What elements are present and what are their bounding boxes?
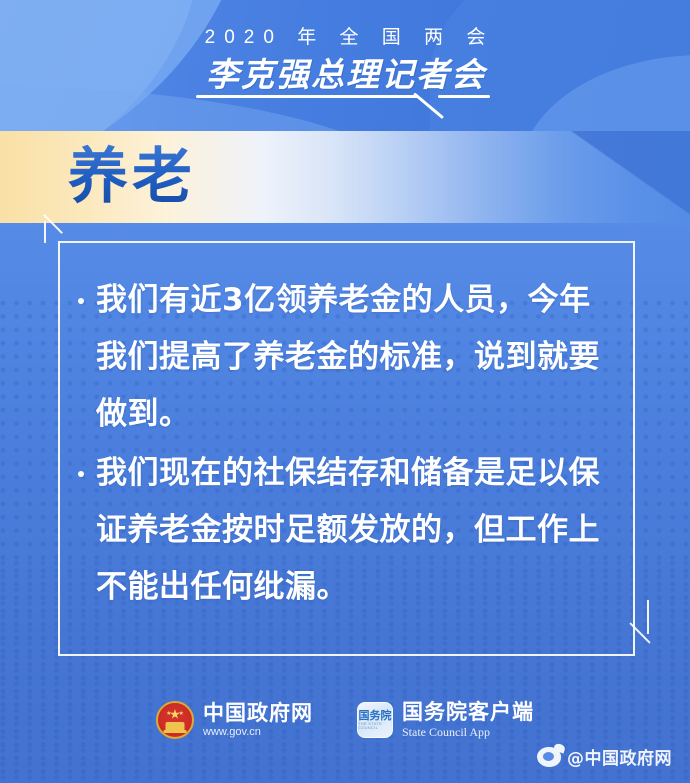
header-rule-long (196, 95, 418, 98)
bullet-list: 我们有近3亿领养老金的人员，今年我们提高了养老金的标准，说到就要做到。 我们现在… (76, 272, 621, 618)
brand-app-text: 国务院客户端 State Council App (402, 701, 534, 739)
app-icon-label: 国务院 (359, 710, 392, 721)
brand-gov-text: 中国政府网 www.gov.cn (203, 702, 313, 739)
brand-app-name-en: State Council App (402, 726, 534, 739)
frame-corner-bottom-right-tick (647, 600, 649, 634)
weibo-handle: @中国政府网 (567, 744, 672, 769)
brand-gov-name: 中国政府网 (203, 702, 313, 724)
header-title: 李克强总理记者会 (0, 48, 690, 96)
band-corner-accent (560, 131, 690, 223)
footer: ★★★★ ★ 中国政府网 www.gov.cn 国务院 THE STATE CO… (0, 694, 690, 746)
brand-gov-url: www.gov.cn (203, 727, 313, 739)
brand-app-name: 国务院客户端 (402, 701, 534, 723)
emblem-star: ★ (169, 707, 181, 720)
poster: 2020 年 全 国 两 会 李克强总理记者会 养老 我们有近3亿领养老金的人员… (0, 0, 690, 783)
national-emblem-icon: ★★★★ ★ (156, 701, 194, 739)
header-kicker: 2020 年 全 国 两 会 (0, 22, 690, 49)
weibo-icon (537, 747, 561, 767)
weibo-watermark[interactable]: @中国政府网 (537, 744, 672, 769)
emblem-gate (166, 722, 185, 730)
list-item: 我们现在的社保结存和储备是足以保证养老金按时足额发放的，但工作上不能出任何纰漏。 (76, 445, 621, 616)
frame-corner-top-left-tick (44, 221, 46, 243)
brand-state-council-app[interactable]: 国务院 THE STATE COUNCIL 国务院客户端 State Counc… (357, 701, 534, 739)
header-banner: 2020 年 全 国 两 会 李克强总理记者会 (0, 0, 690, 138)
app-icon-sublabel: THE STATE COUNCIL (358, 722, 392, 730)
state-council-app-icon: 国务院 THE STATE COUNCIL (357, 702, 393, 738)
brand-gov-cn[interactable]: ★★★★ ★ 中国政府网 www.gov.cn (156, 701, 313, 739)
list-item: 我们有近3亿领养老金的人员，今年我们提高了养老金的标准，说到就要做到。 (76, 272, 621, 443)
section-title: 养老 (68, 139, 196, 215)
header-rule-short (438, 95, 490, 98)
